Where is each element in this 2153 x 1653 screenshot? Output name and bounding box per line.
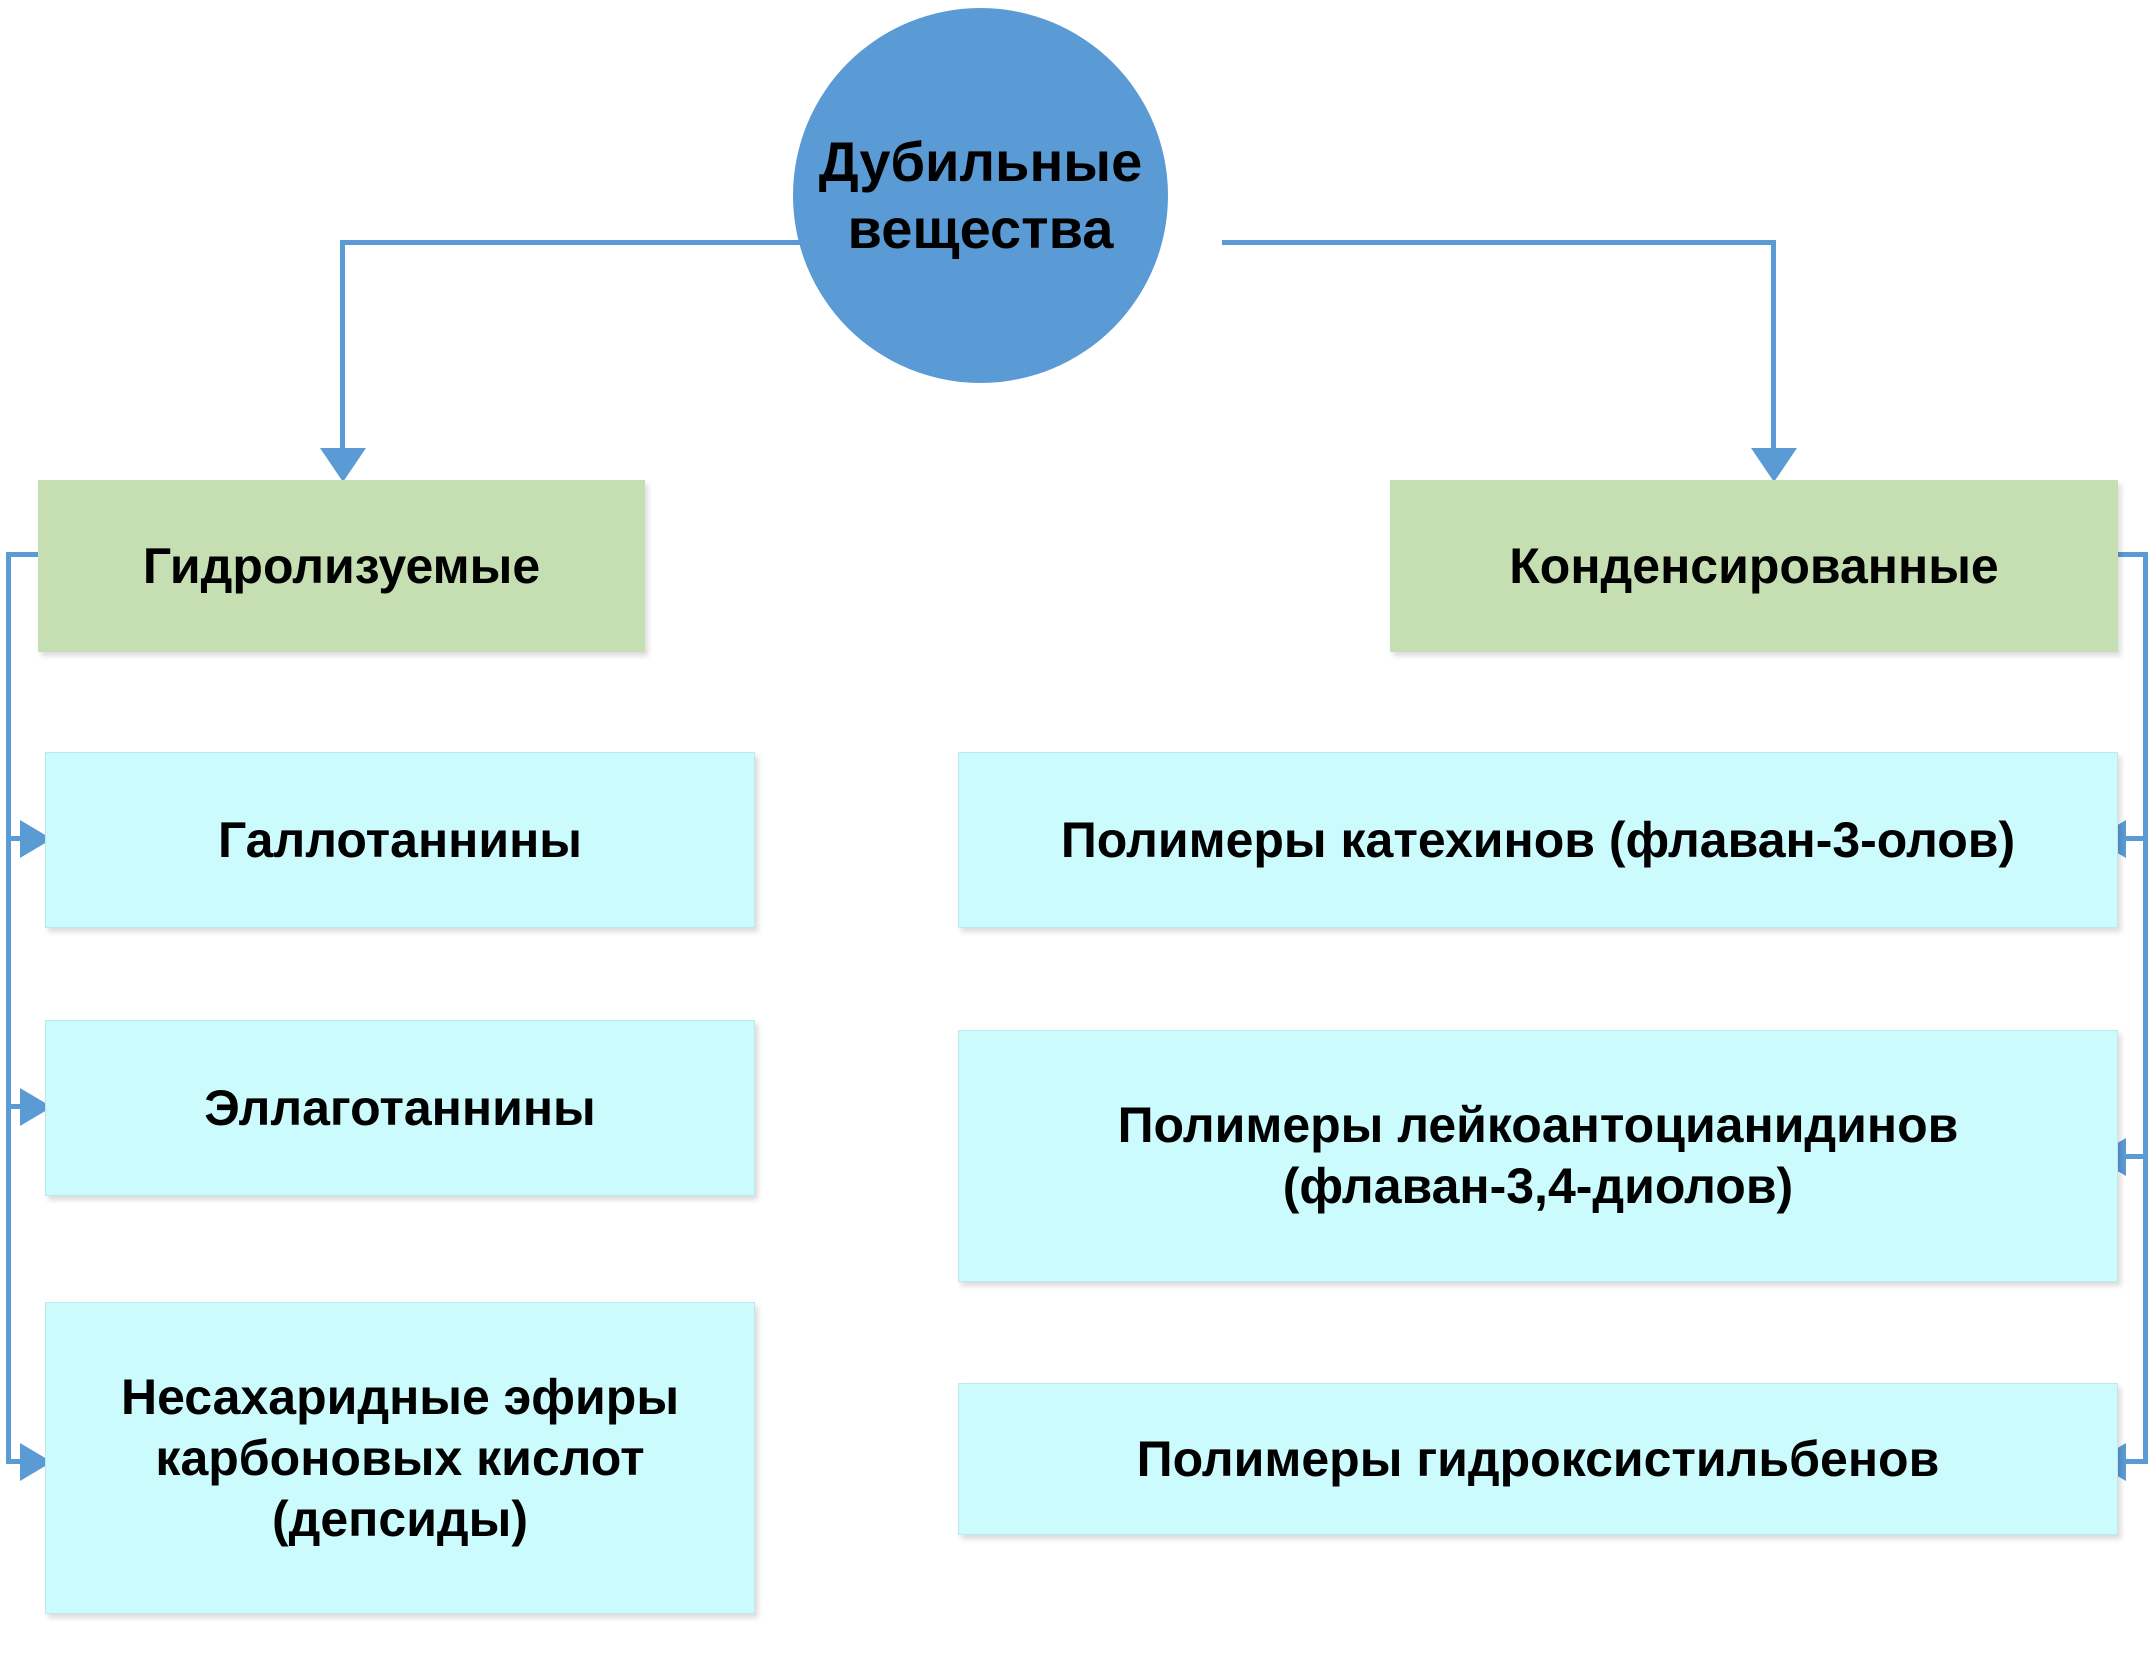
- leaf-node-hydroxystilbene-polymers-label: Полимеры гидроксистильбенов: [1123, 1429, 1954, 1490]
- leaf-node-leucoanthocyanidin-polymers[interactable]: Полимеры лейкоантоцианидинов (флаван-3,4…: [958, 1030, 2118, 1282]
- branch-node-hydrolyzable-label: Гидролизуемые: [129, 536, 554, 597]
- connector-left-spine: [6, 552, 11, 1464]
- leaf-node-ellagitannins-label: Эллаготаннины: [190, 1078, 609, 1139]
- leaf-node-depsides[interactable]: Несахаридные эфиры карбоновых кислот (де…: [45, 1302, 755, 1614]
- leaf-node-depsides-label: Несахаридные эфиры карбоновых кислот (де…: [46, 1367, 754, 1550]
- branch-node-condensed[interactable]: Конденсированные: [1390, 480, 2118, 652]
- leaf-node-catechin-polymers[interactable]: Полимеры катехинов (флаван-3-олов): [958, 752, 2118, 928]
- leaf-node-ellagitannins[interactable]: Эллаготаннины: [45, 1020, 755, 1196]
- leaf-node-leucoanthocyanidin-polymers-label: Полимеры лейкоантоцианидинов (флаван-3,4…: [959, 1095, 2117, 1217]
- leaf-node-gallotannins[interactable]: Галлотаннины: [45, 752, 755, 928]
- connector-right-leaf-3: [2126, 1459, 2144, 1464]
- connector-root-to-right-vertical: [1771, 240, 1776, 452]
- leaf-node-hydroxystilbene-polymers[interactable]: Полимеры гидроксистильбенов: [958, 1383, 2118, 1535]
- leaf-node-catechin-polymers-label: Полимеры катехинов (флаван-3-олов): [1047, 810, 2029, 871]
- connector-root-to-right-horizontal: [1222, 240, 1776, 245]
- branch-node-condensed-label: Конденсированные: [1495, 536, 2012, 597]
- branch-node-hydrolyzable[interactable]: Гидролизуемые: [38, 480, 645, 652]
- root-node-label: Дубильные вещества: [793, 129, 1168, 261]
- diagram-canvas: Дубильные вещества Гидролизуемые Конденс…: [0, 0, 2153, 1653]
- root-node-tannins[interactable]: Дубильные вещества: [793, 8, 1168, 383]
- connector-right-leaf-1: [2126, 836, 2144, 841]
- connector-right-spine: [2143, 552, 2148, 1464]
- arrowhead-root-to-condensed: [1751, 448, 1797, 482]
- connector-root-to-left-horizontal: [340, 240, 840, 245]
- leaf-node-gallotannins-label: Галлотаннины: [204, 810, 596, 871]
- connector-right-leaf-2: [2126, 1154, 2144, 1159]
- connector-root-to-left-vertical: [340, 240, 345, 452]
- arrowhead-root-to-hydrolyzable: [320, 448, 366, 482]
